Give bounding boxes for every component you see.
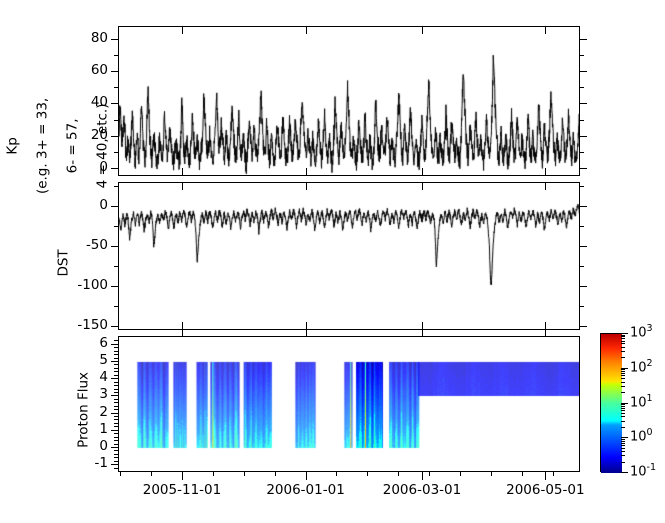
xtick-minor <box>120 472 121 476</box>
flux-ytick-minor <box>114 368 118 369</box>
flux-ytick-minor <box>114 440 118 441</box>
flux-ytick-minor <box>114 378 118 379</box>
colorbar-tick-minor <box>621 357 625 358</box>
flux-ytick-label--1: -1 <box>76 455 108 471</box>
flux-ytick-minor <box>114 358 118 359</box>
dst-ytick-minor--75 <box>114 266 118 267</box>
flux-ytick-minor <box>114 447 118 448</box>
colorbar-tick-minor <box>621 445 625 446</box>
colorbar-tick-minor <box>621 455 625 456</box>
flux-ytick-minor <box>114 416 118 417</box>
dst-ytick-major-right-0 <box>580 206 587 207</box>
kp-ytick-minor-10 <box>114 152 118 153</box>
flux-ytick-label-5: 5 <box>76 352 108 368</box>
flux-ytick-minor <box>114 371 118 372</box>
colorbar-tick-label-1: 101 <box>630 393 653 410</box>
colorbar-tick-minor <box>621 421 625 422</box>
dst-ytick-minor-right--125 <box>580 306 584 307</box>
kp-ytick-major-right-20 <box>580 136 587 137</box>
kp-ytick-minor-30 <box>114 120 118 121</box>
flux-ytick-minor <box>114 457 118 458</box>
kp-ytick-label-60: 60 <box>66 62 108 78</box>
flux-ytick-minor <box>114 392 118 393</box>
xtick-minor <box>367 472 368 476</box>
dst-ytick-minor-right--25 <box>580 226 584 227</box>
colorbar-tick-minor <box>621 439 625 440</box>
flux-ytick-minor <box>114 444 118 445</box>
dst-ytick-label--100: -100 <box>56 277 108 293</box>
colorbar-tick-minor <box>621 347 625 348</box>
colorbar-tick-minor <box>621 336 625 337</box>
dst-ytick-minor--25 <box>114 226 118 227</box>
flux-ytick-minor <box>114 454 118 455</box>
flux-ytick-minor <box>114 399 118 400</box>
colorbar-tick-minor <box>621 386 625 387</box>
panel1-xtick-top-0 <box>182 182 183 190</box>
xtick-minor <box>429 472 430 476</box>
colorbar-tick-label--1: 10-1 <box>630 462 656 479</box>
kp-ytick-label-80: 80 <box>66 30 108 46</box>
xtick-minor <box>244 472 245 476</box>
flux-ytick-label-6: 6 <box>76 335 108 351</box>
flux-ytick-minor <box>114 430 118 431</box>
xtick-minor <box>398 472 399 476</box>
xtick-minor <box>460 472 461 476</box>
dst-ytick-major-right--150 <box>580 326 587 327</box>
flux-ytick-minor <box>114 409 118 410</box>
kp-ytick-major-right-40 <box>580 103 587 104</box>
kp-ytick-minor-right-70 <box>580 55 584 56</box>
flux-ytick-minor <box>114 423 118 424</box>
kp-ytick-major-20 <box>111 136 118 137</box>
flux-ytick-minor <box>114 385 118 386</box>
colorbar-tick-minor <box>621 343 625 344</box>
dst-ytick-label--150: -150 <box>56 317 108 333</box>
kp-ytick-label-20: 20 <box>66 127 108 143</box>
xtick-major-0 <box>182 472 183 480</box>
flux-ytick-minor <box>114 375 118 376</box>
panel0-xtick-top-0 <box>182 26 183 34</box>
flux-ytick-minor <box>114 433 118 434</box>
flux-ytick-minor <box>114 406 118 407</box>
colorbar-tick-minor <box>621 382 625 383</box>
kp-ytick-major-80 <box>111 39 118 40</box>
colorbar-tick-minor <box>621 448 625 449</box>
kp-ytick-minor-right-30 <box>580 120 584 121</box>
xtick-label-1: 2006-01-01 <box>251 482 361 498</box>
colorbar-tick-minor <box>621 369 625 370</box>
dst-ytick-label--50: -50 <box>56 237 108 253</box>
dst-ytick-major-0 <box>111 206 118 207</box>
panel0-xtick-top-3 <box>545 26 546 34</box>
xtick-minor <box>491 472 492 476</box>
panel1-xtick-top-3 <box>545 182 546 190</box>
flux-ytick-minor <box>114 461 118 462</box>
colorbar-tick-minor <box>621 408 625 409</box>
colorbar-tick-label-2: 102 <box>630 358 653 375</box>
kp-ytick-major-0 <box>111 168 118 169</box>
colorbar-tick-minor <box>621 371 625 372</box>
kp-ytick-major-right-60 <box>580 71 587 72</box>
flux-ytick-label-3: 3 <box>76 386 108 402</box>
flux-ytick-minor <box>114 354 118 355</box>
kp-ytick-minor-right-50 <box>580 87 584 88</box>
flux-ytick-minor <box>114 347 118 348</box>
colorbar-tick-minor <box>621 462 625 463</box>
dst-ytick-minor--125 <box>114 306 118 307</box>
dst-ytick-major--100 <box>111 286 118 287</box>
xtick-label-0: 2005-11-01 <box>127 482 237 498</box>
flux-ytick-minor <box>114 402 118 403</box>
flux-xtick-top-3 <box>545 328 546 336</box>
flux-ytick-minor <box>114 344 118 345</box>
colorbar-tick-minor <box>621 413 625 414</box>
colorbar-tick-minor <box>621 375 625 376</box>
xtick-major-3 <box>545 472 546 480</box>
xtick-minor <box>151 472 152 476</box>
dst-ytick-minor-25 <box>114 186 118 187</box>
panel0-xtick-major-3 <box>545 168 546 176</box>
panel1-xtick-top-1 <box>306 182 307 190</box>
flux-ytick-minor <box>114 340 118 341</box>
kp-ytick-label-40: 40 <box>66 94 108 110</box>
dst-ytick-major-right--50 <box>580 246 587 247</box>
dst-ytick-major--50 <box>111 246 118 247</box>
dst-ytick-minor-right-25 <box>580 186 584 187</box>
flux-ytick-minor <box>114 364 118 365</box>
kp-ytick-major-40 <box>111 103 118 104</box>
colorbar-tick-label-0: 100 <box>630 427 653 444</box>
kp-ytick-major-right-0 <box>580 168 587 169</box>
flux-xtick-top-1 <box>306 328 307 336</box>
kp-ytick-label-0: 0 <box>66 159 108 175</box>
colorbar-tick-minor <box>621 416 625 417</box>
kp-ytick-minor-50 <box>114 87 118 88</box>
xtick-label-2: 2006-03-01 <box>367 482 477 498</box>
flux-ytick-label-4: 4 <box>76 369 108 385</box>
colorbar-tick-minor <box>621 378 625 379</box>
flux-ytick-label-0: 0 <box>76 438 108 454</box>
flux-ytick-minor <box>114 419 118 420</box>
tick-layer: 0204060800-50-100-1506543210-12005-11-01… <box>0 0 665 523</box>
flux-xtick-top-2 <box>422 328 423 336</box>
colorbar-tick-minor <box>621 451 625 452</box>
xtick-minor <box>275 472 276 476</box>
xtick-minor <box>522 472 523 476</box>
kp-ytick-major-60 <box>111 71 118 72</box>
figure-root: Kp (e.g. 3+ = 33, 6- = 57, 4 = 40, etc.)… <box>0 0 665 523</box>
flux-ytick-minor <box>114 382 118 383</box>
dst-ytick-minor-right--75 <box>580 266 584 267</box>
colorbar-tick-minor <box>621 406 625 407</box>
colorbar-tick-minor <box>621 335 625 336</box>
flux-ytick-minor <box>114 450 118 451</box>
flux-ytick-minor <box>114 395 118 396</box>
flux-xtick-top-0 <box>182 328 183 336</box>
xtick-minor <box>336 472 337 476</box>
flux-ytick-minor <box>114 468 118 469</box>
xtick-label-3: 2006-05-01 <box>490 482 600 498</box>
colorbar-tick-minor <box>621 341 625 342</box>
colorbar-tick-major--1 <box>621 472 628 473</box>
colorbar-tick-minor <box>621 404 625 405</box>
panel0-xtick-top-2 <box>422 26 423 34</box>
colorbar-tick-label-3: 103 <box>630 323 653 340</box>
colorbar-tick-minor <box>621 443 625 444</box>
flux-ytick-minor <box>114 464 118 465</box>
dst-ytick-major-right--100 <box>580 286 587 287</box>
xtick-major-1 <box>306 472 307 480</box>
flux-ytick-label-1: 1 <box>76 421 108 437</box>
kp-ytick-major-right-80 <box>580 39 587 40</box>
panel1-xtick-top-2 <box>422 182 423 190</box>
panel0-xtick-major-2 <box>422 168 423 176</box>
colorbar-tick-minor <box>621 373 625 374</box>
flux-ytick-minor <box>114 389 118 390</box>
dst-ytick-major--150 <box>111 326 118 327</box>
xtick-minor <box>213 472 214 476</box>
flux-ytick-minor <box>114 361 118 362</box>
flux-ytick-minor <box>114 437 118 438</box>
colorbar-tick-minor <box>621 338 625 339</box>
kp-ytick-minor-right-10 <box>580 152 584 153</box>
flux-ytick-minor <box>114 426 118 427</box>
panel0-xtick-top-1 <box>306 26 307 34</box>
dst-ytick-label-0: 0 <box>56 197 108 213</box>
colorbar-tick-minor <box>621 441 625 442</box>
colorbar-tick-minor <box>621 427 625 428</box>
colorbar-tick-minor <box>621 392 625 393</box>
colorbar-tick-minor <box>621 410 625 411</box>
xtick-minor <box>553 472 554 476</box>
xtick-major-2 <box>422 472 423 480</box>
flux-ytick-label-2: 2 <box>76 404 108 420</box>
panel0-xtick-major-1 <box>306 168 307 176</box>
flux-ytick-minor <box>114 351 118 352</box>
kp-ytick-minor-70 <box>114 55 118 56</box>
colorbar-tick-minor <box>621 351 625 352</box>
flux-ytick-minor <box>114 413 118 414</box>
panel0-xtick-major-0 <box>182 168 183 176</box>
